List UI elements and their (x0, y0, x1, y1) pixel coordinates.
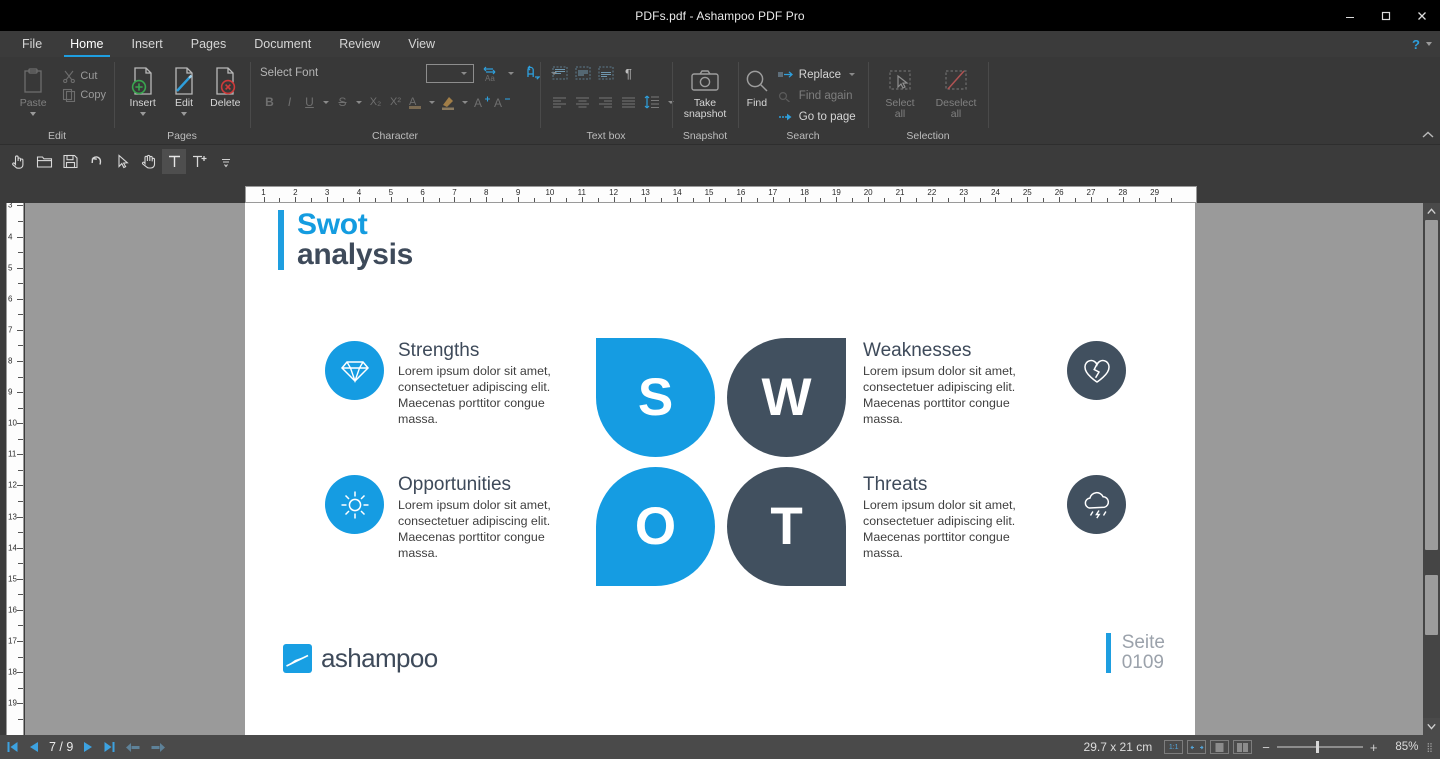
scroll-up-button[interactable] (1423, 203, 1440, 220)
tab-insert[interactable]: Insert (118, 31, 177, 57)
ruler-label: 6 (8, 294, 12, 303)
replace-label: Replace (799, 69, 841, 81)
ruler-label: 28 (1118, 188, 1127, 197)
edit-small-buttons: Cut Copy (58, 60, 110, 104)
deselect-all-icon (942, 64, 970, 98)
ruler-tick-minor (630, 198, 631, 202)
text-tool-icon[interactable] (162, 149, 186, 174)
ruler-tick-minor (375, 198, 376, 202)
chevron-down-icon[interactable] (508, 72, 514, 75)
scroll-down-button[interactable] (1423, 718, 1440, 735)
page-dimensions: 29.7 x 21 cm (1084, 740, 1153, 754)
ruler-tick (1059, 197, 1060, 202)
find-label: Find (747, 98, 767, 109)
zoom-controls: − + 85% (1262, 740, 1418, 755)
ruler-tick (17, 392, 23, 393)
ruler-tick (17, 330, 23, 331)
ruler-label: 9 (516, 188, 520, 197)
ruler-tick (295, 197, 296, 202)
group-label-snapshot: Snapshot (676, 129, 734, 144)
ruler-tick (17, 237, 23, 238)
align-bottom-icon[interactable] (596, 63, 615, 83)
chevron-down-icon[interactable] (461, 72, 467, 75)
ruler-label: 13 (641, 188, 650, 197)
ruler-label: 8 (8, 357, 12, 366)
line-spacing-icon[interactable] (642, 92, 661, 112)
align-left-icon[interactable] (550, 92, 569, 112)
ruler-tick-minor (18, 688, 23, 689)
zoom-slider-thumb[interactable] (1316, 741, 1319, 753)
close-icon[interactable] (1404, 0, 1440, 31)
find-button[interactable]: Find (742, 60, 772, 109)
ruler-tick (709, 197, 710, 202)
broken-heart-icon (1067, 341, 1126, 400)
ruler-tick (17, 579, 23, 580)
ruler-tick (486, 197, 487, 202)
navigate-back-icon[interactable] (125, 742, 141, 753)
deselect-all-label-2: all (951, 109, 962, 120)
select-all-icon (886, 64, 914, 98)
go-to-page-icon (778, 111, 794, 123)
blob-o: O (596, 467, 715, 586)
ruler-tick-minor (18, 377, 23, 378)
camera-icon (690, 64, 720, 98)
svg-text:Aa: Aa (485, 74, 495, 82)
ruler-tick-minor (725, 198, 726, 202)
scrollbar-thumb[interactable] (1425, 220, 1438, 550)
ruler-tick (17, 299, 23, 300)
chevron-down-icon[interactable] (30, 112, 36, 116)
bold-button[interactable]: B (260, 92, 279, 112)
cut-label: Cut (80, 70, 97, 82)
svg-text:A: A (474, 96, 482, 110)
ruler-label: 23 (959, 188, 968, 197)
select-font-label[interactable]: Select Font (260, 67, 420, 79)
quadrant-body: Lorem ipsum dolor sit amet, consectetuer… (398, 363, 578, 428)
ruler-tick-minor (343, 198, 344, 202)
zoom-in-button[interactable]: + (1370, 740, 1378, 755)
ruler-tick-minor (1011, 198, 1012, 202)
ruler-tick-minor (18, 719, 23, 720)
ruler-tick-minor (18, 501, 23, 502)
page-indicator[interactable]: 7 / 9 (49, 740, 73, 754)
ruler-tick-minor (18, 625, 23, 626)
italic-button[interactable]: I (280, 92, 299, 112)
page-edit-icon (170, 64, 198, 98)
view-mode-fit-width[interactable] (1187, 740, 1206, 754)
vertical-scrollbar[interactable] (1423, 203, 1440, 735)
find-again-button[interactable]: Find again (778, 85, 858, 106)
ruler-label: 26 (1055, 188, 1064, 197)
search-commands: Replace Find again (772, 60, 864, 127)
page-marker-accent-bar (1106, 633, 1111, 673)
ruler-label: 4 (357, 188, 361, 197)
previous-page-icon[interactable] (28, 741, 40, 753)
ruler-tick-minor (502, 198, 503, 202)
ruler-tick (900, 197, 901, 202)
paste-button[interactable]: Paste (8, 60, 58, 116)
next-page-icon[interactable] (82, 741, 94, 753)
vertical-align-row: ¶ (544, 59, 638, 87)
strikethrough-button[interactable]: S (333, 92, 352, 112)
ruler-label: 10 (8, 419, 17, 428)
ruler-tick-minor (852, 198, 853, 202)
ruler-tick-minor (948, 198, 949, 202)
title-line-2: analysis (297, 240, 413, 270)
edit-label: Edit (175, 98, 193, 109)
view-mode-single-page[interactable] (1210, 740, 1229, 754)
page-title: Swot analysis (278, 210, 413, 270)
ruler-tick (836, 197, 837, 202)
search-icon (744, 64, 770, 98)
ruler-tick-minor (1139, 198, 1140, 202)
ruler-tick (17, 205, 23, 206)
ruler-tick-minor (566, 198, 567, 202)
vertical-ruler-area: 345678910111213141516171819 (0, 203, 25, 735)
ruler-label: 9 (8, 388, 12, 397)
ruler-label: 22 (927, 188, 936, 197)
chevron-down-icon[interactable] (140, 112, 146, 116)
ruler-label: 12 (8, 481, 17, 490)
navigate-forward-icon[interactable] (150, 742, 166, 753)
quadrant-weaknesses: Weaknesses Lorem ipsum dolor sit amet, c… (863, 341, 1126, 427)
page-marker-label: Seite (1122, 633, 1165, 653)
first-page-icon[interactable] (6, 741, 19, 753)
subscript-button[interactable]: X₂ (366, 92, 385, 112)
ribbon-group-edit: Paste Cut (0, 57, 114, 144)
ruler-tick-minor (1043, 198, 1044, 202)
vertical-ruler[interactable]: 345678910111213141516171819 (6, 203, 24, 735)
svg-text:A: A (494, 96, 502, 110)
ruler-tick (741, 197, 742, 202)
delete-label: Delete (210, 98, 240, 109)
change-case-icon[interactable]: Aa (480, 63, 499, 83)
ruler-tick-minor (534, 198, 535, 202)
ruler-label: 5 (389, 188, 393, 197)
group-label-pages: Pages (118, 129, 246, 144)
paragraph-mark-icon[interactable]: ¶ (619, 63, 638, 83)
ruler-label: 15 (8, 574, 17, 583)
chevron-down-icon[interactable] (356, 101, 362, 104)
ruler-tick-minor (1171, 198, 1172, 202)
pan-hand-icon[interactable] (136, 149, 160, 174)
delete-page-button[interactable]: Delete (205, 60, 246, 109)
sun-icon (325, 475, 384, 534)
ruler-tick-minor (279, 198, 280, 202)
tab-file[interactable]: File (8, 31, 56, 57)
ruler-label: 14 (8, 543, 17, 552)
ruler-tick (264, 197, 265, 202)
cut-button[interactable]: Cut (58, 66, 110, 85)
horizontal-ruler[interactable]: 1234567891011121314151617181920212223242… (245, 186, 1197, 203)
add-text-icon[interactable] (188, 149, 212, 174)
zoom-slider[interactable] (1277, 746, 1363, 748)
ribbon-group-textbox: ¶ (540, 57, 672, 144)
copy-label: Copy (80, 89, 106, 101)
ruler-tick (17, 672, 23, 673)
ruler-tick (17, 454, 23, 455)
underline-button[interactable]: U (300, 92, 319, 112)
more-options-icon[interactable] (214, 149, 238, 174)
quadrant-title: Strengths (398, 341, 578, 361)
ruler-label: 21 (896, 188, 905, 197)
ruler-tick-minor (407, 198, 408, 202)
help-icon[interactable]: ? (1412, 37, 1420, 52)
ruler-tick (1123, 197, 1124, 202)
title-accent-bar (278, 210, 284, 270)
ruler-tick-minor (661, 198, 662, 202)
ruler-tick (995, 197, 996, 202)
ruler-tick (677, 197, 678, 202)
ruler-tick-minor (18, 221, 23, 222)
group-label-edit: Edit (4, 129, 110, 144)
copy-button[interactable]: Copy (58, 85, 110, 104)
ruler-tick-minor (820, 198, 821, 202)
ruler-tick (17, 548, 23, 549)
font-row: Select Font Aa (254, 59, 560, 87)
quadrant-body: Lorem ipsum dolor sit amet, consectetuer… (863, 363, 1053, 428)
chevron-down-icon[interactable] (429, 101, 435, 104)
minimize-icon[interactable] (1332, 0, 1368, 31)
save-icon[interactable] (58, 149, 82, 174)
go-to-page-button[interactable]: Go to page (778, 106, 858, 127)
ruler-tick (17, 268, 23, 269)
ruler-label: 10 (545, 188, 554, 197)
blob-w: W (727, 338, 846, 457)
document-canvas[interactable]: Swot analysis S W O T (25, 203, 1423, 735)
select-all-label-2: all (895, 109, 906, 120)
status-bar: 7 / 9 29.7 x 21 cm 1:1 (0, 735, 1440, 759)
ruler-tick (805, 197, 806, 202)
quadrant-body: Lorem ipsum dolor sit amet, consectetuer… (398, 497, 578, 562)
ashampoo-logo: ashampoo (283, 643, 438, 674)
ruler-label: 18 (8, 668, 17, 677)
ruler-tick (614, 197, 615, 202)
highlight-color-button[interactable] (439, 92, 458, 112)
align-right-icon[interactable] (596, 92, 615, 112)
format-row: B I U S X₂ X² A (254, 87, 511, 117)
quadrant-threats: Threats Lorem ipsum dolor sit amet, cons… (863, 475, 1126, 561)
ribbon-group-pages: Insert Edit (114, 57, 250, 144)
group-label-search: Search (742, 129, 864, 144)
pdf-page[interactable]: Swot analysis S W O T (245, 203, 1195, 735)
ruler-tick-minor (470, 198, 471, 202)
ruler-label: 3 (325, 188, 329, 197)
group-label-character: Character (254, 129, 536, 144)
ruler-label: 20 (864, 188, 873, 197)
ruler-label: 1 (261, 188, 265, 197)
ruler-tick (868, 197, 869, 202)
ruler-tick-minor (18, 657, 23, 658)
touch-hand-icon[interactable] (6, 149, 30, 174)
ruler-tick-minor (18, 345, 23, 346)
ruler-label: 24 (991, 188, 1000, 197)
ruler-tick (645, 197, 646, 202)
ruler-label: 12 (609, 188, 618, 197)
go-to-page-label: Go to page (799, 111, 856, 123)
zoom-out-button[interactable]: − (1262, 740, 1270, 755)
ruler-label: 5 (8, 263, 12, 272)
ruler-tick-minor (18, 283, 23, 284)
ruler-tick (1091, 197, 1092, 202)
tab-pages[interactable]: Pages (177, 31, 240, 57)
ruler-tick-minor (1107, 198, 1108, 202)
open-folder-icon[interactable] (32, 149, 56, 174)
view-mode-buttons: 1:1 (1164, 740, 1252, 754)
edit-page-button[interactable]: Edit (163, 60, 204, 116)
maximize-icon[interactable] (1368, 0, 1404, 31)
ruler-tick-minor (980, 198, 981, 202)
ruler-tick-minor (18, 252, 23, 253)
blob-t: T (727, 467, 846, 586)
chevron-down-icon[interactable] (849, 73, 855, 76)
horizontal-ruler-area: 1234567891011121314151617181920212223242… (0, 178, 1440, 203)
last-page-icon[interactable] (103, 741, 116, 753)
ruler-tick (773, 197, 774, 202)
ruler-tick (17, 517, 23, 518)
ruler-label: 8 (484, 188, 488, 197)
title-line-1: Swot (297, 210, 413, 240)
ruler-label: 11 (8, 450, 16, 459)
quadrant-strengths: Strengths Lorem ipsum dolor sit amet, co… (325, 341, 578, 427)
find-again-icon (778, 90, 794, 102)
ruler-label: 19 (8, 699, 17, 708)
ruler-label: 3 (8, 203, 12, 210)
ruler-tick-minor (18, 439, 23, 440)
ruler-label: 29 (1150, 188, 1159, 197)
scrollbar-track[interactable] (1423, 220, 1440, 718)
find-again-label: Find again (799, 90, 853, 102)
zoom-value: 85% (1384, 741, 1418, 753)
ruler-tick-minor (1075, 198, 1076, 202)
copy-icon (62, 88, 76, 102)
ruler-tick (454, 197, 455, 202)
ruler-tick-minor (598, 198, 599, 202)
ruler-tick-minor (18, 408, 23, 409)
ruler-label: 17 (8, 637, 17, 646)
ruler-label: 19 (832, 188, 841, 197)
window-title: PDFs.pdf - Ashampoo PDF Pro (635, 9, 804, 23)
ashampoo-logo-mark (283, 644, 312, 673)
quadrant-title: Weaknesses (863, 341, 1053, 361)
chevron-down-icon[interactable] (462, 101, 468, 104)
horizontal-align-row (544, 87, 677, 117)
page-navigation: 7 / 9 (6, 740, 166, 754)
view-mode-two-page[interactable] (1233, 740, 1252, 754)
ruler-tick-minor (311, 198, 312, 202)
group-label-selection: Selection (872, 129, 984, 144)
select-all-button[interactable]: Select all (874, 60, 926, 120)
select-arrow-icon[interactable] (110, 149, 134, 174)
collapse-ribbon-button[interactable] (1422, 131, 1434, 142)
ruler-tick-minor (18, 594, 23, 595)
grow-font-button[interactable]: A (472, 92, 491, 112)
ruler-label: 11 (578, 188, 586, 197)
font-size-input[interactable] (426, 64, 474, 83)
justify-icon[interactable] (619, 92, 638, 112)
ribbon-group-character: Select Font Aa (250, 57, 540, 144)
ruler-label: 25 (1023, 188, 1032, 197)
chevron-down-icon[interactable] (323, 101, 329, 104)
ruler-label: 2 (293, 188, 297, 197)
ribbon-group-selection: Select all Deselect all Selection (868, 57, 988, 144)
chevron-down-icon[interactable] (1426, 42, 1432, 46)
ruler-tick (327, 197, 328, 202)
ruler-tick (518, 197, 519, 202)
ruler-label: 18 (800, 188, 809, 197)
undo-icon[interactable] (84, 149, 108, 174)
align-middle-icon[interactable] (573, 63, 592, 83)
ruler-tick (359, 197, 360, 202)
group-label-textbox: Text box (544, 129, 668, 144)
ruler-tick (550, 197, 551, 202)
chevron-down-icon[interactable] (181, 112, 187, 116)
take-snapshot-button[interactable]: Take snapshot (676, 60, 734, 120)
ruler-tick-minor (884, 198, 885, 202)
main-area: 345678910111213141516171819 Swot analysi… (0, 203, 1440, 735)
quick-access-toolbar (0, 145, 1440, 178)
take-snapshot-label-2: snapshot (684, 109, 727, 120)
ruler-label: 7 (8, 325, 12, 334)
ribbon-filler (988, 57, 1440, 144)
tab-document[interactable]: Document (240, 31, 325, 57)
ruler-label: 6 (420, 188, 424, 197)
quadrant-opportunities: Opportunities Lorem ipsum dolor sit amet… (325, 475, 578, 561)
ribbon-group-search: Find Replace (738, 57, 868, 144)
ruler-label: 16 (8, 605, 17, 614)
ruler-label: 13 (8, 512, 17, 521)
insert-page-button[interactable]: Insert (122, 60, 163, 116)
ruler-label: 4 (8, 232, 12, 241)
ruler-tick (1027, 197, 1028, 202)
align-center-icon[interactable] (573, 92, 592, 112)
page-add-icon (129, 64, 157, 98)
deselect-all-button[interactable]: Deselect all (930, 60, 982, 120)
application-window: PDFs.pdf - Ashampoo PDF Pro File Home In… (0, 0, 1440, 759)
shrink-font-button[interactable]: A (492, 92, 511, 112)
ruler-tick (17, 423, 23, 424)
tab-home[interactable]: Home (56, 31, 117, 57)
ribbon-tab-bar: File Home Insert Pages Document Review V… (0, 31, 1440, 57)
blob-s: S (596, 338, 715, 457)
align-top-icon[interactable] (550, 63, 569, 83)
page-delete-icon (211, 64, 239, 98)
ribbon-group-snapshot: Take snapshot Snapshot (672, 57, 738, 144)
tab-review[interactable]: Review (325, 31, 394, 57)
ruler-tick-minor (789, 198, 790, 202)
ruler-label: 7 (452, 188, 456, 197)
resize-grip-icon[interactable]: ⣿ (1426, 742, 1434, 753)
view-mode-actual-size[interactable]: 1:1 (1164, 740, 1183, 754)
replace-button[interactable]: Replace (778, 64, 858, 85)
storm-cloud-icon (1067, 475, 1126, 534)
page-marker: Seite 0109 (1106, 633, 1165, 673)
ribbon: Paste Cut (0, 57, 1440, 145)
superscript-button[interactable]: X² (386, 92, 405, 112)
tab-view[interactable]: View (394, 31, 449, 57)
ruler-tick (17, 641, 23, 642)
font-color-button[interactable]: A (406, 92, 425, 112)
ruler-tick-minor (439, 198, 440, 202)
ruler-tick-minor (916, 198, 917, 202)
insert-label: Insert (130, 98, 156, 109)
scrollbar-thumb-secondary[interactable] (1425, 575, 1438, 635)
ruler-label: 15 (705, 188, 714, 197)
ashampoo-logo-text: ashampoo (321, 643, 438, 674)
ruler-label: 17 (768, 188, 777, 197)
scissors-icon (62, 69, 76, 83)
title-bar: PDFs.pdf - Ashampoo PDF Pro (0, 0, 1440, 31)
